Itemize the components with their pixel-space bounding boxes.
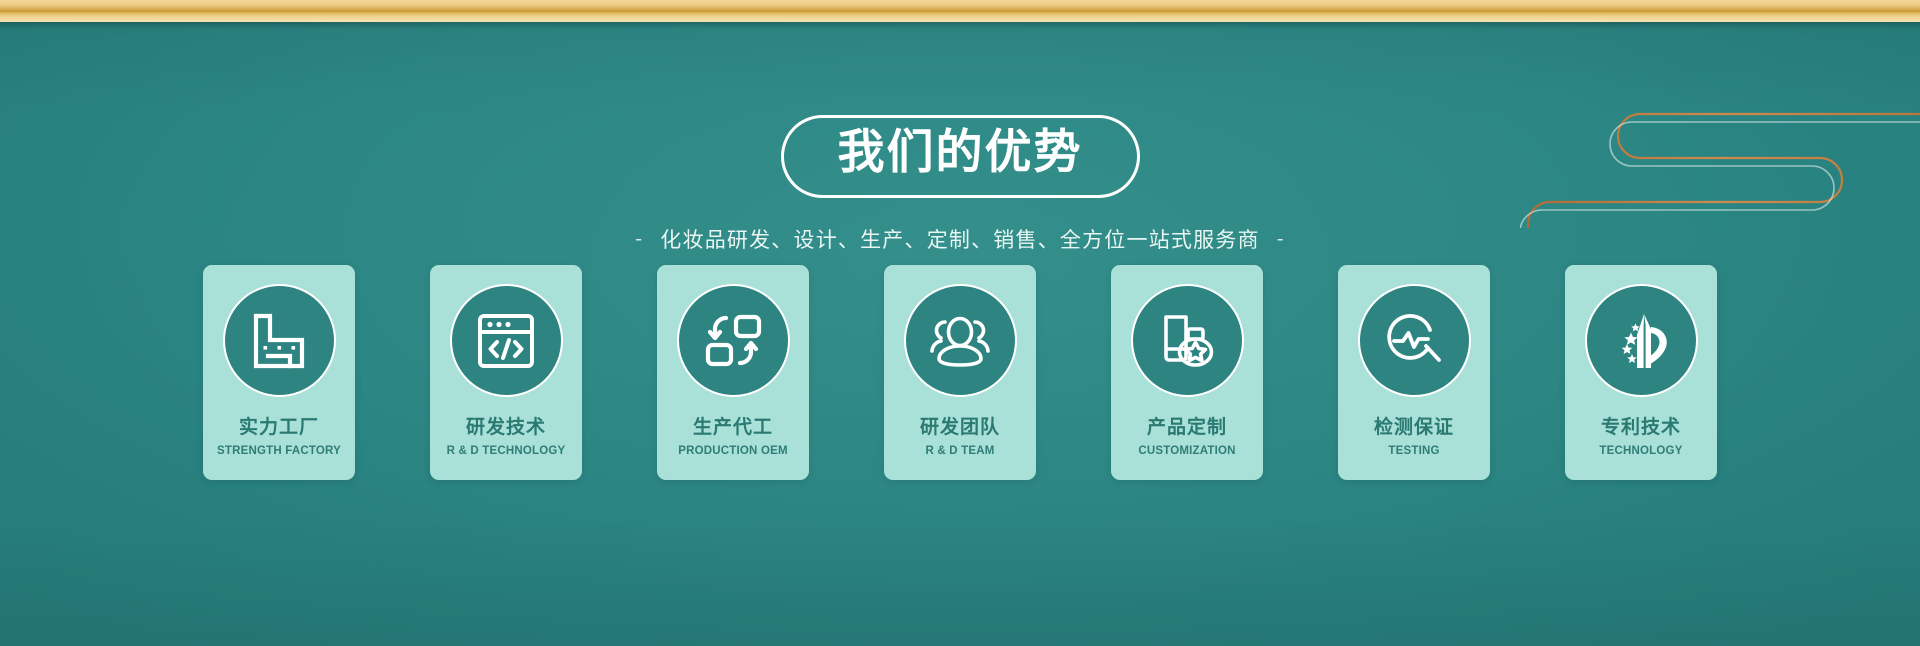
page-title: 我们的优势 xyxy=(838,127,1083,180)
advantage-title-en: R & D TECHNOLOGY xyxy=(447,446,566,458)
magnifier-waveform-icon xyxy=(1384,312,1444,370)
advantage-title-en: CUSTOMIZATION xyxy=(1138,446,1235,458)
advantage-title-cn: 研发技术 xyxy=(466,418,546,437)
advantage-title-cn: 产品定制 xyxy=(1147,418,1227,437)
advantage-card-rd-technology[interactable]: 研发技术 R & D TECHNOLOGY xyxy=(430,265,582,480)
advantage-title-en: STRENGTH FACTORY xyxy=(217,446,341,458)
advantage-card-technology[interactable]: 专利技术 TECHNOLOGY xyxy=(1565,265,1717,480)
exchange-boxes-icon xyxy=(702,312,764,370)
subtitle-text: 化妆品研发、设计、生产、定制、销售、全方位一站式服务商 xyxy=(660,224,1259,254)
header-block: 我们的优势 - 化妆品研发、设计、生产、定制、销售、全方位一站式服务商 - xyxy=(0,0,1920,254)
icon-circle xyxy=(677,284,790,397)
advantage-title-en: R & D TEAM xyxy=(925,446,994,458)
subtitle-dash-left: - xyxy=(635,228,643,250)
icon-circle xyxy=(450,284,563,397)
advantage-title-en: TECHNOLOGY xyxy=(1599,446,1682,458)
icon-circle xyxy=(1585,284,1698,397)
advantage-title-cn: 专利技术 xyxy=(1601,418,1681,437)
advantage-card-list: 实力工厂 STRENGTH FACTORY 研发技术 R & D TECHNOL… xyxy=(203,265,1717,480)
advantage-title-en: TESTING xyxy=(1388,446,1439,458)
advantage-title-en: PRODUCTION OEM xyxy=(678,446,788,458)
rocket-stars-icon xyxy=(1610,311,1672,371)
icon-circle xyxy=(223,284,336,397)
page-subtitle: - 化妆品研发、设计、生产、定制、销售、全方位一站式服务商 - xyxy=(635,224,1285,254)
subtitle-dash-right: - xyxy=(1277,228,1285,250)
advantage-title-cn: 研发团队 xyxy=(920,418,1000,437)
gold-bar-shadow xyxy=(0,22,1920,29)
advantage-title-cn: 实力工厂 xyxy=(239,418,319,437)
advantage-title-cn: 生产代工 xyxy=(693,418,773,437)
advantage-card-rd-team[interactable]: 研发团队 R & D TEAM xyxy=(884,265,1036,480)
advantage-card-production-oem[interactable]: 生产代工 PRODUCTION OEM xyxy=(657,265,809,480)
factory-icon xyxy=(248,312,310,370)
advantage-card-customization[interactable]: 产品定制 CUSTOMIZATION xyxy=(1111,265,1263,480)
cosmetic-bottle-flower-icon xyxy=(1156,311,1218,371)
advantage-card-strength-factory[interactable]: 实力工厂 STRENGTH FACTORY xyxy=(203,265,355,480)
gold-top-bar xyxy=(0,0,1920,22)
advantage-title-cn: 检测保证 xyxy=(1374,418,1454,437)
icon-circle xyxy=(904,284,1017,397)
advantage-card-testing[interactable]: 检测保证 TESTING xyxy=(1338,265,1490,480)
people-group-icon xyxy=(927,313,993,369)
icon-circle xyxy=(1131,284,1244,397)
page-title-pill: 我们的优势 xyxy=(781,115,1140,198)
code-window-icon xyxy=(476,312,536,370)
advantages-banner: 我们的优势 - 化妆品研发、设计、生产、定制、销售、全方位一站式服务商 - 实力… xyxy=(0,0,1920,646)
icon-circle xyxy=(1358,284,1471,397)
